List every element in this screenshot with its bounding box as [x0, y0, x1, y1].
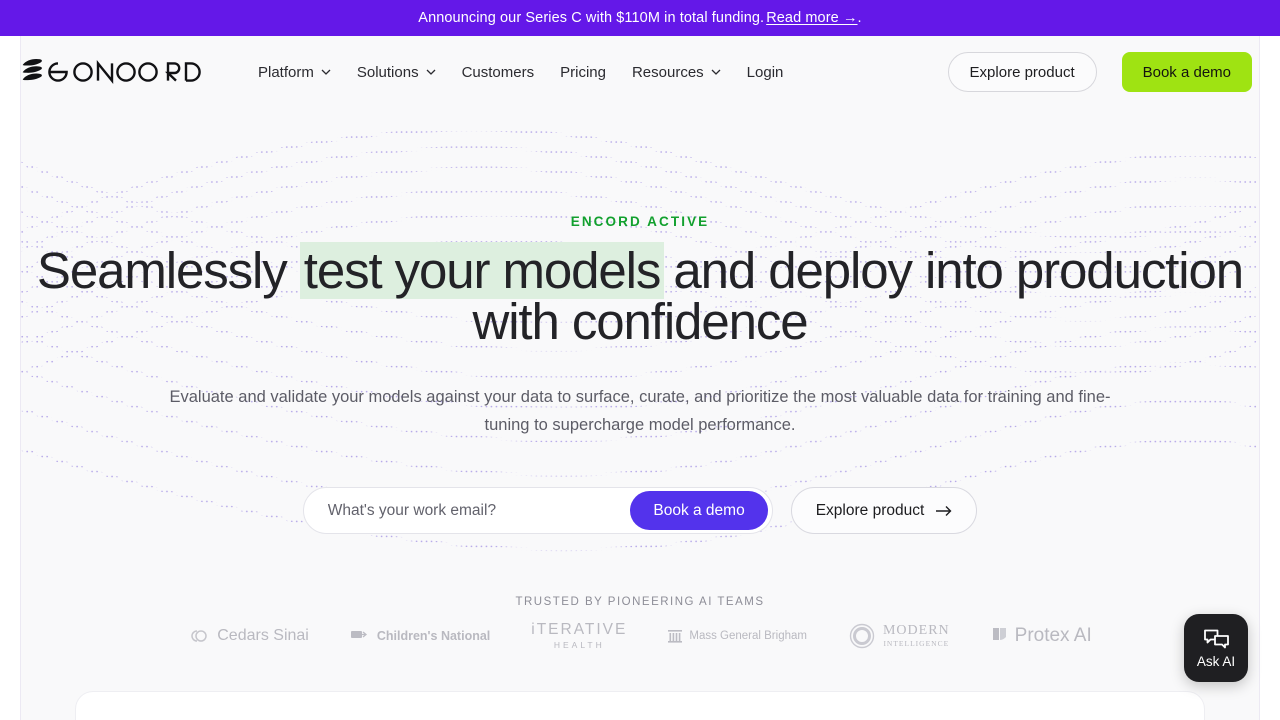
ask-ai-label: Ask AI [1197, 654, 1235, 669]
nav-item-label: Platform [258, 64, 314, 81]
client-logo-childrens-national: Children's National [350, 628, 490, 643]
hero-eyebrow: ENCORD ACTIVE [20, 214, 1260, 229]
nav-item-pricing[interactable]: Pricing [560, 64, 606, 81]
ask-ai-widget[interactable]: Ask AI [1184, 614, 1248, 682]
chevron-down-icon [711, 69, 721, 75]
client-name: Children's National [377, 629, 490, 643]
client-logo-mass-general-brigham: Mass General Brigham [668, 628, 807, 643]
client-logo-modern-intelligence: MODERN INTELLIGENCE [848, 622, 950, 650]
hero-headline: Seamlessly test your models and deploy i… [20, 246, 1260, 346]
page-root: Announcing our Series C with $110M in to… [0, 0, 1280, 720]
headline-pre: Seamlessly [37, 242, 300, 299]
next-section-card [75, 691, 1205, 720]
announcement-banner[interactable]: Announcing our Series C with $110M in to… [0, 0, 1280, 36]
hero-subtitle: Evaluate and validate your models agains… [165, 384, 1115, 439]
book-a-demo-button[interactable]: Book a demo [1122, 52, 1252, 92]
client-name: iTERATIVE [531, 621, 627, 639]
hero-explore-label: Explore product [816, 502, 925, 520]
client-sublabel: HEALTH [554, 640, 605, 650]
hero-explore-product-button[interactable]: Explore product [791, 487, 978, 534]
chevron-down-icon [321, 69, 331, 75]
email-capture[interactable]: Book a demo [303, 487, 773, 534]
nav-item-label: Resources [632, 64, 704, 81]
client-logo-protex-ai: Protex AI [991, 625, 1092, 647]
nav-item-login[interactable]: Login [747, 64, 784, 81]
modern-intelligence-ring-icon [848, 622, 876, 650]
nav-item-label: Solutions [357, 64, 419, 81]
nav-item-resources[interactable]: Resources [632, 64, 721, 81]
client-name: Protex AI [1015, 625, 1092, 647]
nav-item-solutions[interactable]: Solutions [357, 64, 436, 81]
client-name: Mass General Brigham [689, 630, 807, 642]
nav-item-label: Login [747, 64, 784, 81]
trusted-by-label: TRUSTED BY PIONEERING AI TEAMS [20, 596, 1260, 608]
cedars-sinai-rings-icon [188, 628, 210, 644]
chat-bubbles-icon [1203, 628, 1230, 650]
site-header: Platform Solutions Customers Pricing Res… [20, 36, 1260, 108]
chevron-down-icon [426, 69, 436, 75]
announcement-read-more-link[interactable]: Read more → [766, 10, 857, 26]
mass-general-brigham-icon [668, 628, 682, 643]
text-caret [300, 251, 303, 297]
nav-item-customers[interactable]: Customers [462, 64, 535, 81]
main-nav: Platform Solutions Customers Pricing Res… [258, 64, 783, 81]
childrens-national-icon [350, 628, 370, 643]
client-logo-cedars-sinai: Cedars Sinai [188, 627, 309, 645]
protex-ai-flag-icon [991, 627, 1008, 645]
form-book-a-demo-button[interactable]: Book a demo [630, 491, 767, 530]
work-email-input[interactable] [328, 502, 631, 520]
client-logo-iterative-health: iTERATIVE HEALTH [531, 621, 627, 650]
announcement-text: Announcing our Series C with $110M in to… [418, 10, 764, 26]
explore-product-button[interactable]: Explore product [948, 52, 1097, 92]
client-name: Cedars Sinai [217, 627, 309, 645]
client-name: MODERN [883, 623, 950, 639]
nav-item-label: Pricing [560, 64, 606, 81]
hero-form: Book a demo Explore product [20, 487, 1260, 534]
header-actions: Explore product Book a demo [948, 52, 1260, 92]
hero-section: ENCORD ACTIVE Seamlessly test your model… [20, 108, 1260, 650]
nav-item-label: Customers [462, 64, 535, 81]
client-sublabel: INTELLIGENCE [883, 639, 949, 648]
nav-item-platform[interactable]: Platform [258, 64, 331, 81]
logo[interactable] [20, 55, 205, 89]
client-wordmark: MODERN INTELLIGENCE [883, 623, 950, 648]
encord-stack-icon [20, 55, 205, 89]
headline-highlight: test your models [304, 242, 661, 299]
arrow-right-icon [935, 505, 952, 517]
client-logo-row: Cedars Sinai Children's National iTERATI… [20, 621, 1260, 650]
announcement-period: . [858, 10, 862, 26]
